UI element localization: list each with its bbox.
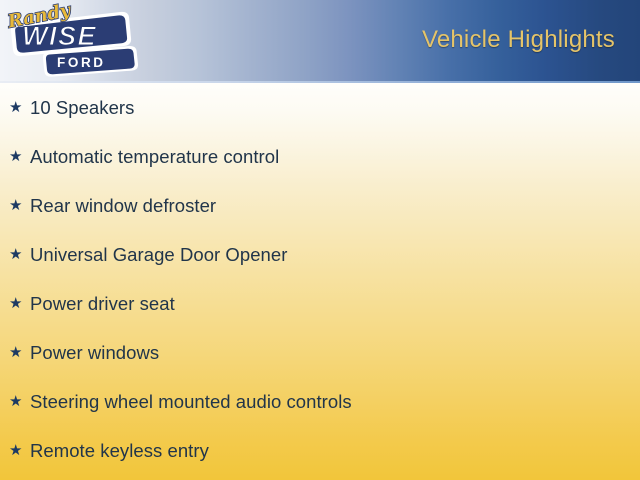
list-item-label: Steering wheel mounted audio controls [30,391,352,413]
star-icon: ★ [9,247,30,262]
star-icon: ★ [9,345,30,360]
list-item: ★ Power windows [0,328,640,377]
list-item: ★ Automatic temperature control [0,132,640,181]
star-icon: ★ [9,443,30,458]
star-icon: ★ [9,296,30,311]
list-item-label: Universal Garage Door Opener [30,244,287,266]
page-title: Vehicle Highlights [422,26,615,54]
list-item: ★ Remote keyless entry [0,426,640,475]
list-item-label: Remote keyless entry [30,440,209,462]
star-icon: ★ [9,100,30,115]
star-icon: ★ [9,198,30,213]
star-icon: ★ [9,394,30,409]
list-item: ★ Universal Garage Door Opener [0,230,640,279]
star-icon: ★ [9,149,30,164]
slide-body: ★ 10 Speakers ★ Automatic temperature co… [0,83,640,480]
vehicle-highlights-slide: WISE FORD Randy Vehicle Highlights ★ 10 … [0,0,640,480]
list-item-label: Power windows [30,342,159,364]
svg-text:FORD: FORD [57,55,106,70]
list-item-label: 10 Speakers [30,97,134,119]
vehicle-highlights-list: ★ 10 Speakers ★ Automatic temperature co… [0,83,640,475]
list-item: ★ Steering wheel mounted audio controls [0,377,640,426]
list-item-label: Power driver seat [30,293,175,315]
randy-wise-ford-logo: WISE FORD Randy [2,2,138,80]
logo-ford-text: FORD [57,55,106,70]
slide-header: WISE FORD Randy Vehicle Highlights [0,0,640,81]
list-item: ★ Power driver seat [0,279,640,328]
list-item-label: Automatic temperature control [30,146,279,168]
list-item: ★ 10 Speakers [0,83,640,132]
list-item-label: Rear window defroster [30,195,216,217]
list-item: ★ Rear window defroster [0,181,640,230]
